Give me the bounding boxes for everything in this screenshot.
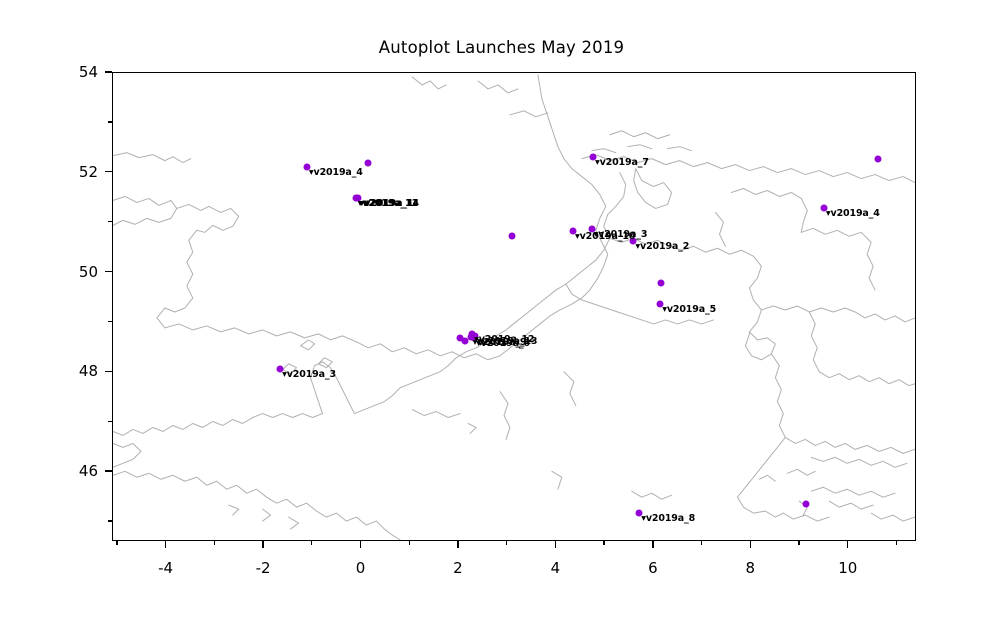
data-point-label: ▾v2019a_2 <box>635 242 689 252</box>
y-axis-tick-major <box>105 470 112 471</box>
x-axis-tick-label: 0 <box>341 559 381 577</box>
y-axis-tick-minor <box>108 520 112 521</box>
x-axis-tick-label: -2 <box>243 559 283 577</box>
y-axis-tick-minor <box>108 421 112 422</box>
x-axis-tick-minor <box>896 541 897 545</box>
y-axis-tick-minor <box>108 121 112 122</box>
x-axis-tick-major <box>555 541 556 548</box>
y-axis-tick-label: 50 <box>56 263 98 281</box>
y-axis-tick-major <box>105 171 112 172</box>
data-point-label: ▾v2019a_8 <box>641 514 695 524</box>
data-point-label: ▾v2019a_7 <box>595 158 649 168</box>
data-point-label: ▾v2019a_4 <box>309 168 363 178</box>
data-point-label: ▾v2019a_4 <box>826 209 880 219</box>
x-axis-tick-minor <box>603 541 604 545</box>
y-axis-tick-label: 48 <box>56 362 98 380</box>
map-plot-area[interactable]: ▾v2019a_4▾v2019a_11▾v2019a_14▾v2019a_1▾v… <box>112 72 916 541</box>
y-axis-tick-major <box>105 271 112 272</box>
data-point-label: ▾v2019a_3 <box>282 370 336 380</box>
y-axis-tick-minor <box>108 221 112 222</box>
y-axis-tick-minor <box>108 321 112 322</box>
x-axis-tick-major <box>360 541 361 548</box>
page-title: Autoplot Launches May 2019 <box>0 38 1003 57</box>
x-axis-tick-minor <box>116 541 117 545</box>
x-axis-tick-major <box>165 541 166 548</box>
x-axis-tick-minor <box>409 541 410 545</box>
data-point-label: ▾v2019a_1 <box>360 199 414 209</box>
x-axis-tick-major <box>847 541 848 548</box>
x-axis-tick-label: 10 <box>828 559 868 577</box>
x-axis-tick-major <box>262 541 263 548</box>
y-axis-tick-label: 54 <box>56 63 98 81</box>
x-axis-tick-major <box>750 541 751 548</box>
y-axis-tick-major <box>105 371 112 372</box>
y-axis-tick-label: 52 <box>56 163 98 181</box>
scatter-labels-layer: ▾v2019a_4▾v2019a_11▾v2019a_14▾v2019a_1▾v… <box>113 73 915 540</box>
x-axis-tick-minor <box>311 541 312 545</box>
x-axis-tick-label: 2 <box>438 559 478 577</box>
data-point-label: ▾v2019a_3 <box>594 230 648 240</box>
y-axis-tick-label: 46 <box>56 462 98 480</box>
x-axis-tick-label: 6 <box>633 559 673 577</box>
y-axis-tick-major <box>105 71 112 72</box>
x-axis-tick-minor <box>798 541 799 545</box>
x-axis-tick-minor <box>701 541 702 545</box>
x-axis-tick-minor <box>506 541 507 545</box>
x-axis-tick-minor <box>214 541 215 545</box>
x-axis-tick-label: -4 <box>146 559 186 577</box>
data-point-label: ▾v2019a_5 <box>662 305 716 315</box>
x-axis-tick-major <box>652 541 653 548</box>
x-axis-tick-label: 4 <box>535 559 575 577</box>
x-axis-tick-label: 8 <box>730 559 770 577</box>
x-axis-tick-major <box>457 541 458 548</box>
data-point-label: ▾v2019a_6 <box>476 339 530 349</box>
matplotlib-figure: Autoplot Launches May 2019 <box>0 0 1003 633</box>
